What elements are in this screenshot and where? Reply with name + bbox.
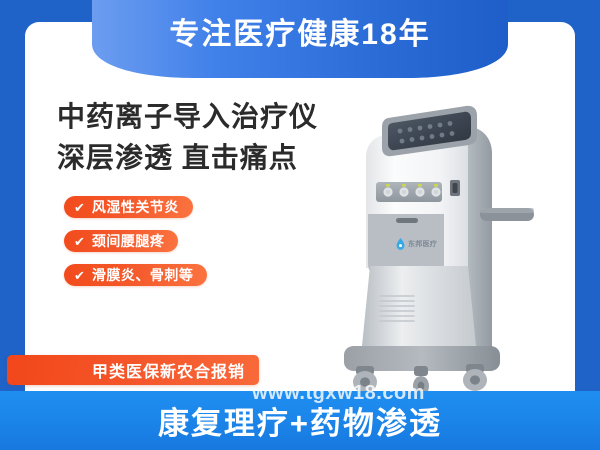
footer-bar: 康复理疗+药物渗透 (0, 391, 600, 450)
footer-text: 康复理疗+药物渗透 (158, 398, 442, 443)
device-illustration: 东邦医疗 (340, 96, 540, 396)
water-drop-icon (396, 238, 405, 250)
device-brand-text: 东邦医疗 (408, 239, 437, 249)
poster-root: 专注医疗健康18年 中药离子导入治疗仪 深层渗透 直击痛点 ✔ 风湿性关节炎 ✔… (0, 0, 600, 450)
check-icon: ✔ (74, 235, 85, 248)
device-svg (340, 96, 540, 396)
check-icon: ✔ (74, 201, 85, 214)
promo-banner: 甲类医保新农合报销 (7, 355, 259, 385)
feature-pill-label: 颈间腰腿疼 (92, 231, 165, 251)
feature-pill: ✔ 颈间腰腿疼 (64, 230, 178, 252)
headline-line-1: 中药离子导入治疗仪 (57, 99, 318, 136)
device-brand-logo: 东邦医疗 (396, 238, 437, 250)
caster-wheel (353, 366, 377, 393)
feature-pill-label: 风湿性关节炎 (92, 197, 179, 217)
top-ribbon: 专注医疗健康18年 (92, 0, 508, 80)
feature-pill: ✔ 风湿性关节炎 (64, 196, 193, 218)
feature-pill-label: 滑膜炎、骨刺等 (92, 265, 194, 285)
check-icon: ✔ (74, 269, 85, 282)
promo-banner-text: 甲类医保新农合报销 (92, 358, 245, 382)
feature-pill-list: ✔ 风湿性关节炎 ✔ 颈间腰腿疼 ✔ 滑膜炎、骨刺等 (64, 196, 207, 298)
headline-line-2: 深层渗透 直击痛点 (57, 140, 298, 177)
feature-pill: ✔ 滑膜炎、骨刺等 (64, 264, 207, 286)
caster-wheel (463, 364, 487, 391)
ribbon-title: 专注医疗健康18年 (92, 0, 508, 62)
